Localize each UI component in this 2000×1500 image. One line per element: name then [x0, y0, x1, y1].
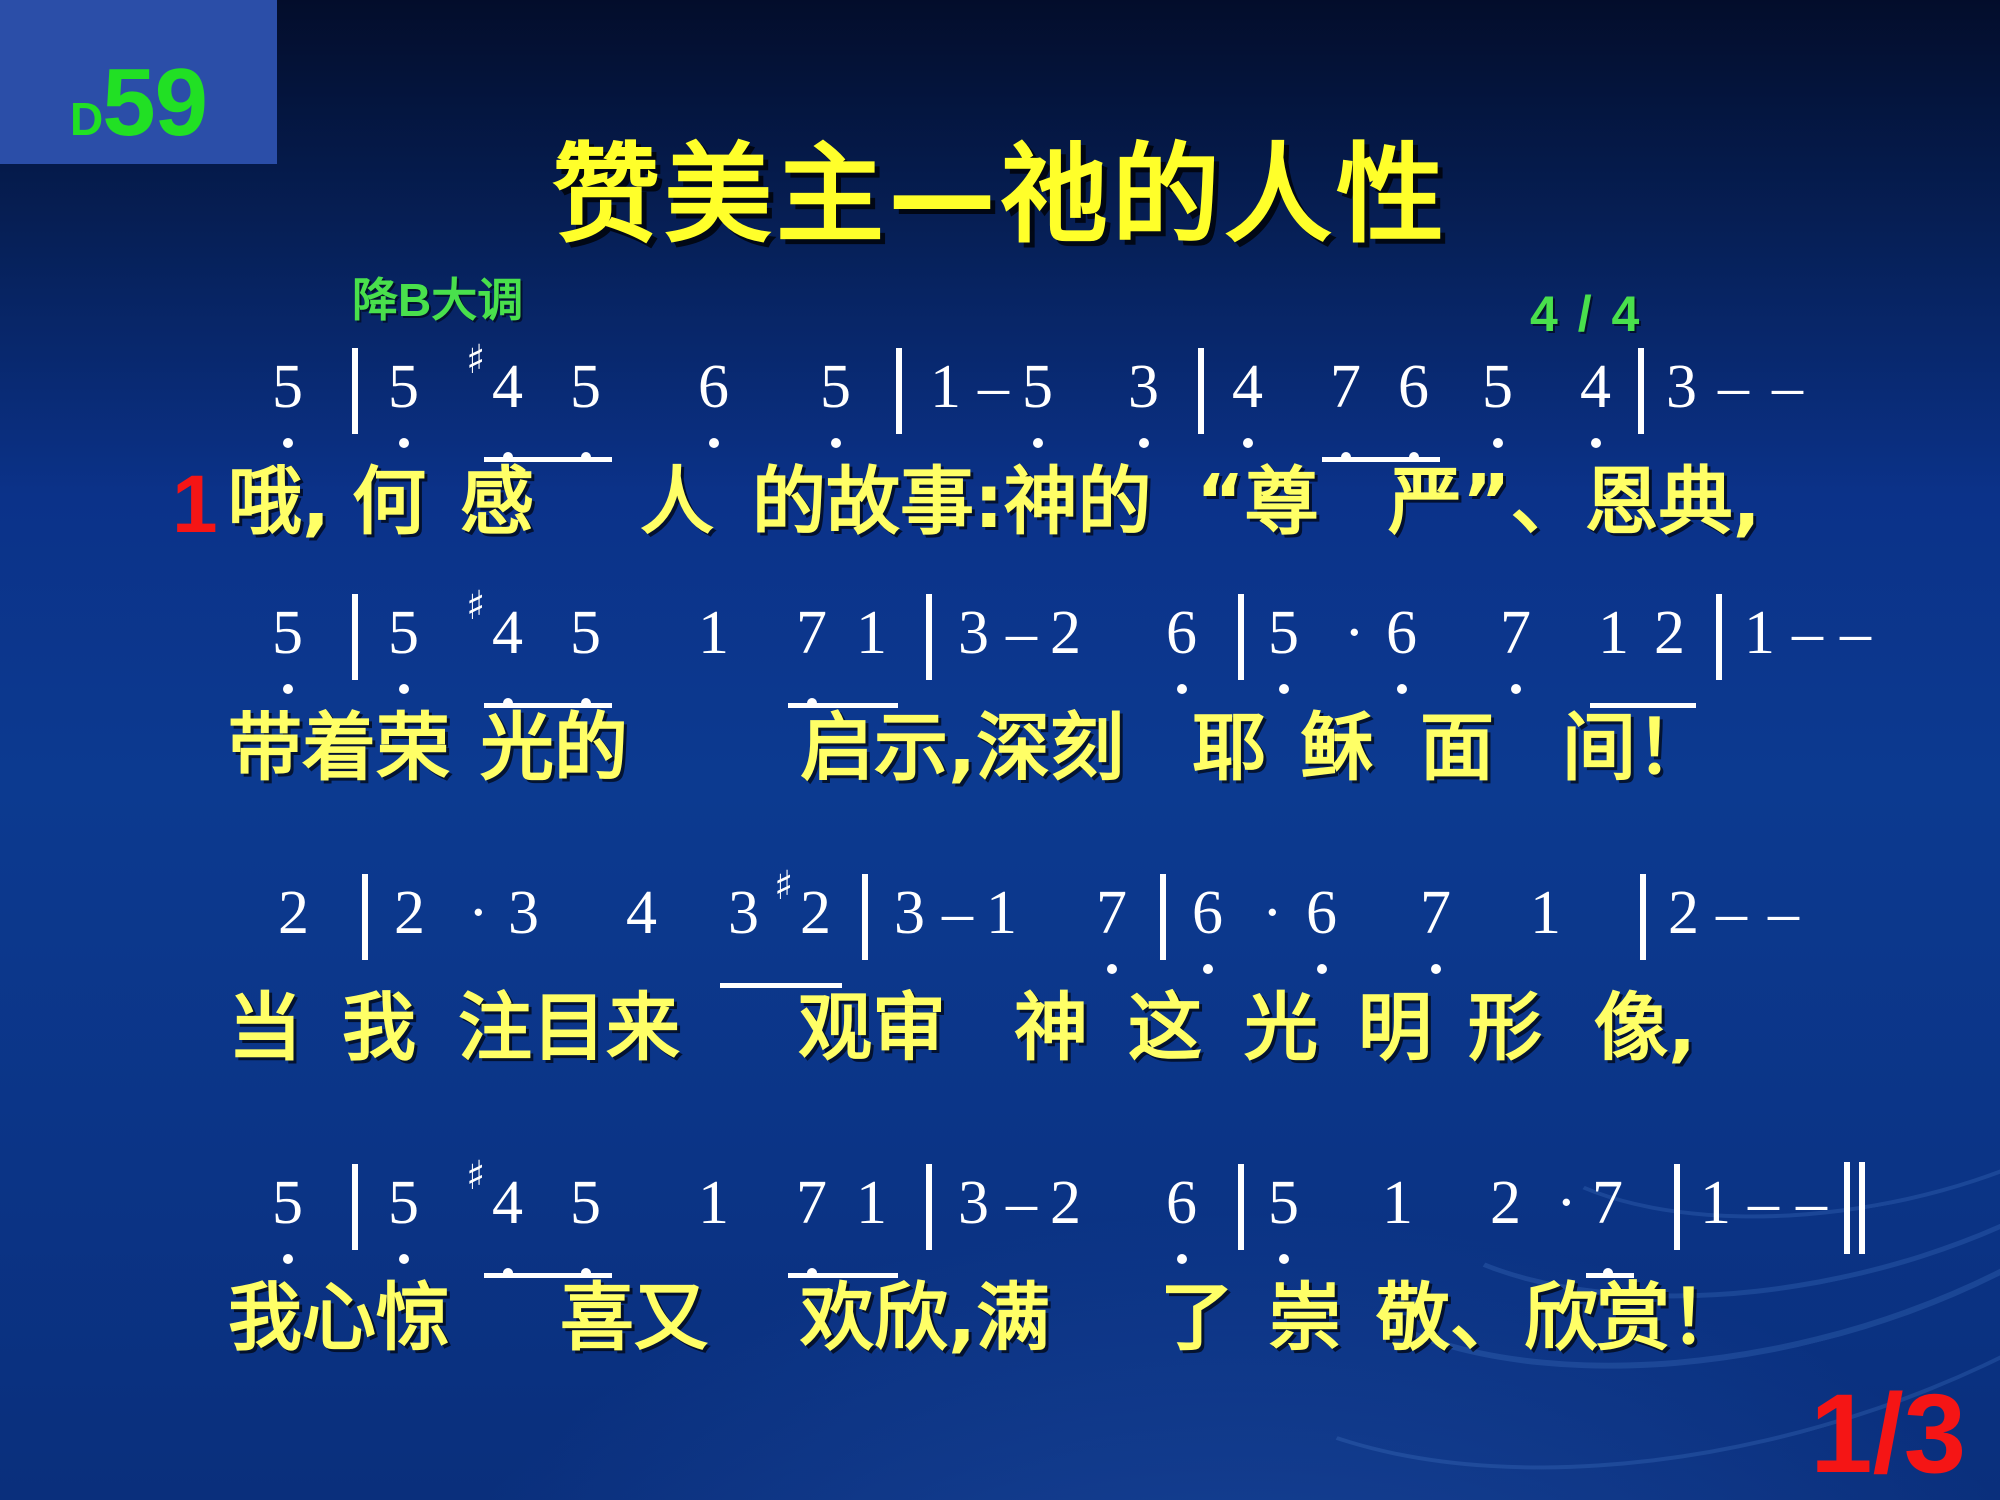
duration-dash: –	[1716, 878, 1747, 949]
lyric-segment: 我	[342, 968, 416, 1075]
augmentation-dot: ·	[1556, 1168, 1577, 1239]
note-1: 1	[986, 878, 1017, 949]
barline	[1160, 874, 1166, 960]
lyric-segment: 何	[352, 442, 426, 549]
note-2: ♯2	[800, 878, 831, 949]
verse-number: 1	[172, 464, 218, 546]
note-3: 3	[1666, 352, 1697, 423]
music-system-1: 55♯45651–53476543–– 哦,何感人的故事:神的“尊严”、恩典,	[0, 352, 2000, 442]
note-5: 5	[820, 352, 851, 423]
barline	[1198, 348, 1204, 434]
lyric-segment: 喜又	[560, 1258, 708, 1365]
note-3: 3	[1128, 352, 1159, 423]
note-5: 5	[570, 352, 601, 423]
note-4: 4	[626, 878, 657, 949]
lyric-segment: 观审	[798, 968, 946, 1075]
note-5: 5	[1022, 352, 1053, 423]
sharp-icon: ♯	[466, 340, 485, 380]
final-barline	[1844, 1162, 1865, 1254]
note-7: 7	[796, 598, 827, 669]
note-1: 1	[1700, 1168, 1731, 1239]
note-6: 6	[1166, 598, 1197, 669]
note-7: 7	[796, 1168, 827, 1239]
duration-dash: –	[1796, 1168, 1827, 1239]
note-3: 3	[894, 878, 925, 949]
lyric-segment: 严”、恩典,	[1388, 442, 1761, 549]
barline	[1238, 594, 1244, 680]
note-3: 3	[728, 878, 759, 949]
lyric-segment: 带着荣	[228, 688, 450, 795]
notation-row: 55♯451713–265·67121––	[0, 598, 2000, 694]
hymn-slide: D59 赞美主—祂的人性 降B大调 4 / 4 1 55♯45651–53476…	[0, 0, 2000, 1500]
note-4: ♯4	[492, 352, 523, 423]
augmentation-dot: ·	[1344, 598, 1365, 669]
lyric-segment: 像,	[1594, 968, 1696, 1075]
octave-dot-low	[1203, 964, 1213, 974]
time-signature: 4 / 4	[1530, 285, 1642, 343]
barline	[352, 594, 358, 680]
duration-dash: –	[1772, 352, 1803, 423]
barline	[926, 1164, 932, 1250]
barline	[352, 1164, 358, 1250]
lyric-segment: 感	[460, 442, 534, 549]
lyric-segment: 哦,	[228, 442, 330, 549]
lyric-segment: 神	[1014, 968, 1088, 1075]
note-1: 1	[1598, 598, 1629, 669]
note-1: 1	[856, 1168, 887, 1239]
note-2: 2	[1654, 598, 1685, 669]
note-3: 3	[508, 878, 539, 949]
lyric-segment: 这	[1128, 968, 1202, 1075]
note-5: 5	[1268, 598, 1299, 669]
barline	[1238, 1164, 1244, 1250]
sharp-icon: ♯	[774, 866, 793, 906]
lyric-segment: 光	[1244, 968, 1318, 1075]
lyric-segment: 赏！	[1596, 1258, 1744, 1365]
octave-dot-low	[1177, 684, 1187, 694]
barline	[362, 874, 368, 960]
octave-dot-low	[1511, 684, 1521, 694]
note-1: 1	[856, 598, 887, 669]
augmentation-dot: ·	[468, 878, 489, 949]
duration-dash: –	[1748, 1168, 1779, 1239]
note-2: 2	[1668, 878, 1699, 949]
octave-dot-low	[1397, 684, 1407, 694]
lyric-segment: 面	[1420, 688, 1494, 795]
barline	[1674, 1164, 1680, 1250]
notation-row: 55♯451713–26512·71––	[0, 1168, 2000, 1264]
note-7: 7	[1420, 878, 1451, 949]
note-2: 2	[1490, 1168, 1521, 1239]
note-5: 5	[388, 352, 419, 423]
music-system-4: 55♯451713–26512·71–– 我心惊喜又欢欣,满了崇敬、欣赏！	[0, 1168, 2000, 1258]
note-4: ♯4	[492, 1168, 523, 1239]
note-7: 7	[1096, 878, 1127, 949]
music-system-3: 22·343♯23–176·6712–– 当我注目来观审神这光明形像,	[0, 878, 2000, 968]
note-1: 1	[698, 598, 729, 669]
page-title: 赞美主—祂的人性	[0, 108, 2000, 264]
note-1: 1	[698, 1168, 729, 1239]
note-6: 6	[1398, 352, 1429, 423]
duration-dash: –	[1768, 878, 1799, 949]
lyric-segment: 的故事:神的	[752, 442, 1152, 549]
note-5: 5	[272, 1168, 303, 1239]
barline	[1638, 348, 1644, 434]
note-2: 2	[1050, 1168, 1081, 1239]
note-6: 6	[1192, 878, 1223, 949]
lyric-segment: 间！	[1562, 688, 1710, 795]
octave-dot-low	[1107, 964, 1117, 974]
lyric-segment: 了	[1160, 1258, 1234, 1365]
note-2: 2	[1050, 598, 1081, 669]
note-5: 5	[272, 352, 303, 423]
note-4: 4	[1232, 352, 1263, 423]
octave-dot-low	[1317, 964, 1327, 974]
lyric-segment: 我心惊	[228, 1258, 450, 1365]
duration-dash: –	[1718, 352, 1749, 423]
note-5: 5	[388, 1168, 419, 1239]
page-indicator: 1/3	[1810, 1378, 1966, 1490]
octave-dot-low	[1431, 964, 1441, 974]
lyric-segment: 欢欣,满	[800, 1258, 1050, 1365]
duration-dash: –	[942, 878, 973, 949]
note-5: 5	[1268, 1168, 1299, 1239]
duration-dash: –	[978, 352, 1009, 423]
note-1: 1	[1530, 878, 1561, 949]
note-3: 3	[958, 598, 989, 669]
notation-row: 22·343♯23–176·6712––	[0, 878, 2000, 974]
lyric-segment: 光的	[480, 688, 628, 795]
duration-dash: –	[1006, 598, 1037, 669]
note-7: 7	[1500, 598, 1531, 669]
augmentation-dot: ·	[1262, 878, 1283, 949]
note-4: 4	[1580, 352, 1611, 423]
lyric-segment: 人	[640, 442, 714, 549]
note-2: 2	[394, 878, 425, 949]
note-6: 6	[1386, 598, 1417, 669]
lyric-segment: 当	[228, 968, 302, 1075]
key-signature: 降B大调	[352, 264, 523, 330]
octave-dot-low	[1279, 684, 1289, 694]
note-5: 5	[570, 598, 601, 669]
music-system-2: 55♯451713–265·67121–– 带着荣光的启示,深刻耶稣面间！	[0, 598, 2000, 688]
note-6: 6	[698, 352, 729, 423]
sharp-icon: ♯	[466, 586, 485, 626]
duration-dash: –	[1840, 598, 1871, 669]
barline	[896, 348, 902, 434]
notation-row: 55♯45651–53476543––	[0, 352, 2000, 448]
note-6: 6	[1306, 878, 1337, 949]
lyric-segment: 崇	[1268, 1258, 1342, 1365]
note-2: 2	[278, 878, 309, 949]
sharp-icon: ♯	[466, 1156, 485, 1196]
note-5: 5	[570, 1168, 601, 1239]
barline	[1716, 594, 1722, 680]
barline	[352, 348, 358, 434]
lyric-segment: “尊	[1196, 442, 1319, 549]
note-7: 7	[1592, 1168, 1623, 1239]
note-1: 1	[1744, 598, 1775, 669]
note-1: 1	[1382, 1168, 1413, 1239]
barline	[862, 874, 868, 960]
lyric-segment: 启示,深刻	[800, 688, 1124, 795]
note-5: 5	[388, 598, 419, 669]
duration-dash: –	[1792, 598, 1823, 669]
duration-dash: –	[1006, 1168, 1037, 1239]
note-1: 1	[930, 352, 961, 423]
barline	[926, 594, 932, 680]
note-4: ♯4	[492, 598, 523, 669]
lyric-segment: 稣	[1300, 688, 1374, 795]
barline	[1640, 874, 1646, 960]
lyric-segment: 敬、欣	[1376, 1258, 1598, 1365]
lyric-segment: 耶	[1192, 688, 1266, 795]
lyric-segment: 注目来	[458, 968, 680, 1075]
note-3: 3	[958, 1168, 989, 1239]
note-5: 5	[1482, 352, 1513, 423]
lyric-segment: 形	[1468, 968, 1542, 1075]
note-6: 6	[1166, 1168, 1197, 1239]
lyric-segment: 明	[1358, 968, 1432, 1075]
note-5: 5	[272, 598, 303, 669]
note-7: 7	[1330, 352, 1361, 423]
